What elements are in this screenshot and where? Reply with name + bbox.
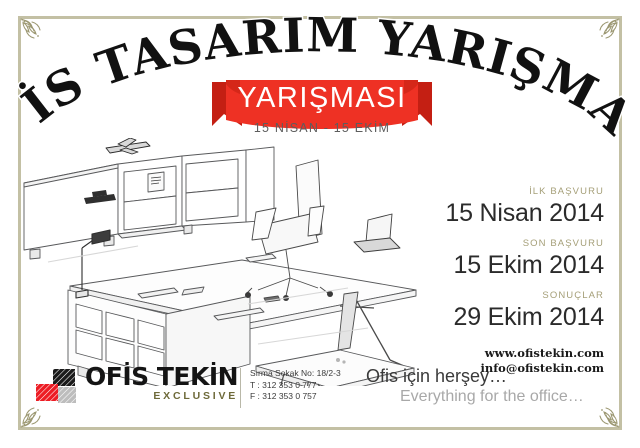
poster-canvas: OFİS TASARIM YARIŞMASI YARIŞMASI 15 NİSA…: [0, 0, 640, 448]
date-block-results: SONUÇLAR 29 Ekim 2014: [394, 290, 604, 332]
ribbon-banner: YARIŞMASI 15 NİSAN - 15 EKİM: [212, 74, 432, 146]
date-value-last-application: 15 Ekim 2014: [394, 250, 604, 280]
company-logo: OFİS TEKİN EXCLUSIVE: [34, 364, 238, 408]
tagline-block: Ofis için herşey… Everything for the off…: [366, 366, 606, 406]
office-furniture-illustration: [18, 138, 428, 386]
date-value-results: 29 Ekim 2014: [394, 302, 604, 332]
date-label-first-application: İLK BAŞVURU: [394, 186, 604, 198]
address-phone: T : 312 353 0 777: [250, 380, 341, 392]
logo-wordmark: OFİS TEKİN EXCLUSIVE: [85, 364, 238, 403]
logo-subtitle: EXCLUSIVE: [85, 390, 238, 403]
date-block-first-application: İLK BAŞVURU 15 Nisan 2014: [394, 186, 604, 228]
ribbon-dates: 15 NİSAN - 15 EKİM: [212, 121, 432, 135]
date-label-results: SONUÇLAR: [394, 290, 604, 302]
footer-bar: OFİS TEKİN EXCLUSIVE Sırma Sokak No: 18/…: [34, 364, 606, 420]
footer-divider: [240, 368, 241, 408]
website-link[interactable]: www.ofistekin.com: [394, 346, 604, 361]
date-value-first-application: 15 Nisan 2014: [394, 198, 604, 228]
date-block-last-application: SON BAŞVURU 15 Ekim 2014: [394, 238, 604, 280]
date-label-last-application: SON BAŞVURU: [394, 238, 604, 250]
address-street: Sırma Sokak No: 18/2-3: [250, 368, 341, 380]
key-dates-column: İLK BAŞVURU 15 Nisan 2014 SON BAŞVURU 15…: [394, 186, 604, 376]
logo-company-name: OFİS TEKİN: [85, 364, 238, 390]
address-fax: F : 312 353 0 757: [250, 391, 341, 403]
ribbon-label: YARIŞMASI: [212, 82, 432, 115]
tagline-english: Everything for the office…: [366, 387, 606, 406]
logo-mark-icon: [34, 366, 82, 408]
tagline-turkish: Ofis için herşey…: [366, 366, 606, 387]
address-block: Sırma Sokak No: 18/2-3 T : 312 353 0 777…: [250, 368, 341, 403]
